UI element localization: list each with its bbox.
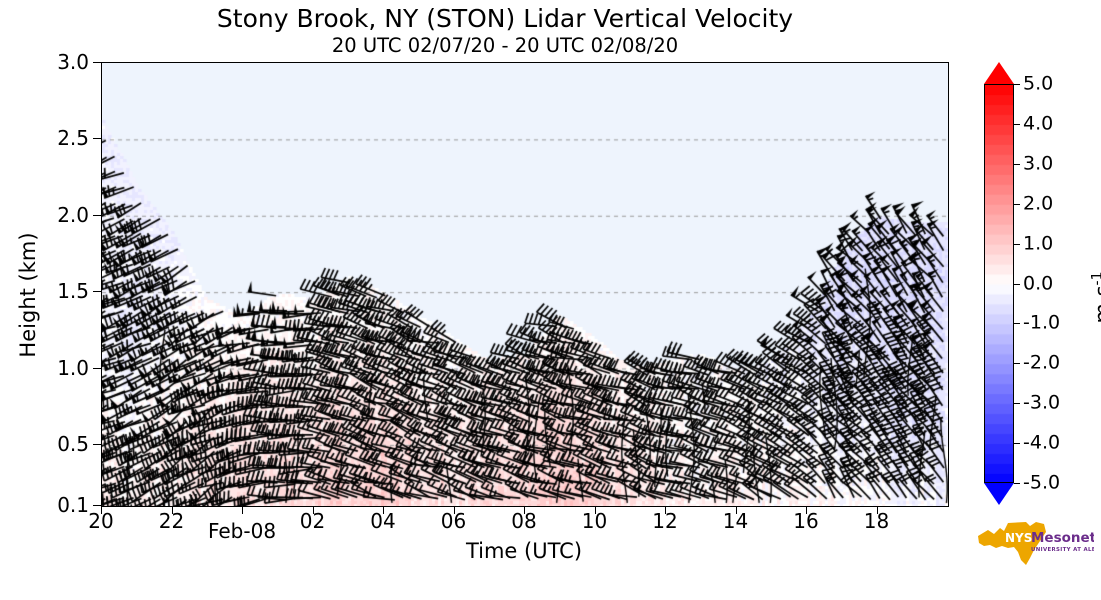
y-tick-mark (93, 215, 101, 216)
x-tick-label: 02 (300, 511, 325, 531)
colorbar-tick-mark (1014, 403, 1020, 404)
y-tick-label: 1.5 (57, 281, 89, 301)
logo-svg: NYS Mesonet UNIVERSITY AT ALBANY (974, 518, 1094, 572)
colorbar-tick-mark (1014, 204, 1020, 205)
x-tick-label: 10 (582, 511, 607, 531)
y-tick-label: 2.5 (57, 128, 89, 148)
colorbar-unit-exponent: -1 (1090, 271, 1101, 285)
colorbar-tick-label: 3.0 (1023, 154, 1053, 173)
colorbar-unit-text: m s (1091, 285, 1101, 323)
logo-mesonet-text: Mesonet (1031, 530, 1094, 546)
y-tick-mark (93, 138, 101, 139)
colorbar-extend-min-icon (984, 483, 1014, 505)
colorbar-tick-mark (1014, 84, 1020, 85)
colorbar-tick-mark (1014, 443, 1020, 444)
chart-subtitle: 20 UTC 02/07/20 - 20 UTC 02/08/20 (0, 34, 1010, 58)
colorbar-tick-mark (1014, 363, 1020, 364)
x-tick-label: 16 (793, 511, 818, 531)
x-tick-label: 12 (652, 511, 677, 531)
colorbar-extend-max-icon (984, 62, 1014, 84)
nys-mesonet-logo: NYS Mesonet UNIVERSITY AT ALBANY (974, 518, 1094, 572)
y-tick-mark (93, 291, 101, 292)
x-axis-label: Time (UTC) (101, 539, 947, 563)
y-tick-mark (93, 505, 101, 506)
colorbar-tick-label: 5.0 (1023, 75, 1053, 94)
logo-tagline-text: UNIVERSITY AT ALBANY (1031, 547, 1094, 553)
colorbar-tick-mark (1014, 244, 1020, 245)
y-tick-label: 0.1 (57, 495, 89, 515)
x-tick-label: 20 (88, 511, 113, 531)
colorbar-tick-mark (1014, 124, 1020, 125)
colorbar-tick-label: -3.0 (1023, 394, 1060, 413)
y-tick-mark (93, 62, 101, 63)
y-tick-label: 3.0 (57, 52, 89, 72)
colorbar-canvas (985, 85, 1014, 483)
x-tick-label: 18 (864, 511, 889, 531)
x-tick-label: 22 (159, 511, 184, 531)
colorbar-tick-label: 1.0 (1023, 234, 1053, 253)
colorbar-tick-mark (1014, 323, 1020, 324)
y-tick-label: 1.0 (57, 358, 89, 378)
colorbar-tick-label: 2.0 (1023, 194, 1053, 213)
x-tick-mark (242, 506, 243, 514)
vertical-velocity-heatmap (102, 63, 948, 506)
y-tick-mark (93, 368, 101, 369)
x-tick-label: Feb-08 (208, 521, 276, 541)
colorbar-gradient (984, 84, 1014, 483)
y-axis-label: Height (km) (16, 175, 40, 415)
plot-area (101, 62, 949, 507)
logo-nys-text: NYS (1005, 531, 1032, 545)
x-tick-label: 04 (370, 511, 395, 531)
y-tick-label: 2.0 (57, 205, 89, 225)
colorbar-tick-label: 0.0 (1023, 274, 1053, 293)
colorbar-unit-label: m s-1 (1090, 238, 1101, 358)
colorbar-tick-label: -2.0 (1023, 354, 1060, 373)
x-tick-label: 06 (441, 511, 466, 531)
x-tick-label: 14 (723, 511, 748, 531)
chart-title-block: Stony Brook, NY (STON) Lidar Vertical Ve… (0, 4, 1010, 58)
y-tick-mark (93, 444, 101, 445)
x-tick-label: 08 (511, 511, 536, 531)
colorbar-tick-mark (1014, 164, 1020, 165)
colorbar-tick-label: -4.0 (1023, 434, 1060, 453)
y-tick-label: 0.5 (57, 434, 89, 454)
colorbar-tick-label: -5.0 (1023, 474, 1060, 493)
colorbar-tick-label: -1.0 (1023, 314, 1060, 333)
colorbar-tick-mark (1014, 284, 1020, 285)
colorbar-tick-mark (1014, 483, 1020, 484)
page-title: Stony Brook, NY (STON) Lidar Vertical Ve… (0, 4, 1010, 34)
colorbar-tick-label: 4.0 (1023, 114, 1053, 133)
colorbar: 5.04.03.02.01.00.0-1.0-2.0-3.0-4.0-5.0 (984, 62, 1014, 505)
